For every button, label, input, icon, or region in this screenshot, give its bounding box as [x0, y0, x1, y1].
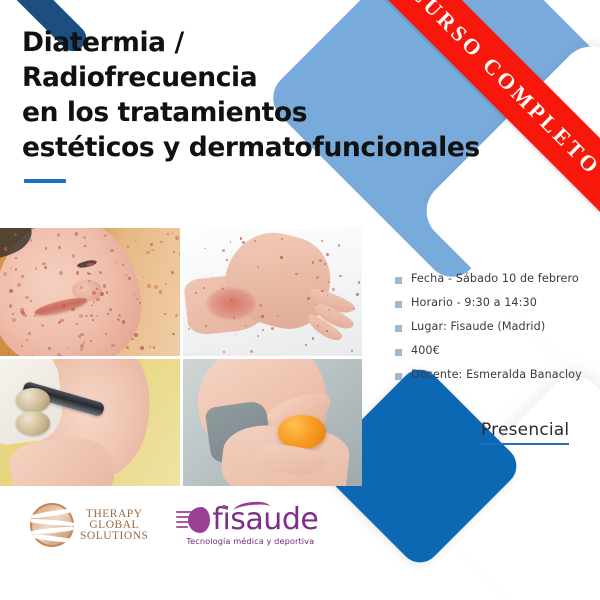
- title-line-3: en los tratamientos: [22, 95, 462, 130]
- fisaude-logo: fisaude Tecnología médica y deportiva: [176, 505, 318, 546]
- info-text-precio: 400€: [411, 344, 440, 357]
- poster-canvas: CURSO COMPLETO Diatermia / Radiofrecuenc…: [0, 0, 600, 600]
- modality-badge: Presencial: [481, 420, 569, 445]
- photo-tint: [0, 359, 180, 487]
- logo-bar: THERAPY GLOBAL SOLUTIONS fisaude Tecnolo…: [30, 503, 318, 547]
- therapy-line-2: GLOBAL: [80, 520, 148, 531]
- info-item-docente: Docente: Esmeralda Banacloy: [395, 368, 600, 381]
- fisaude-mark-icon: [176, 505, 210, 535]
- therapy-line-3: SOLUTIONS: [80, 531, 148, 542]
- photo-tint: [183, 359, 363, 487]
- modality-label: Presencial: [481, 420, 569, 440]
- photo-tint: [0, 228, 180, 356]
- title-line-4: estéticos y dermatofuncionales: [22, 130, 462, 165]
- info-text-lugar: Lugar: Fisaude (Madrid): [411, 320, 545, 333]
- acne-face-photo: [0, 228, 180, 356]
- therapy-wordmark: THERAPY GLOBAL SOLUTIONS: [80, 509, 148, 542]
- bullet-square-icon: [395, 373, 402, 380]
- bullet-square-icon: [395, 325, 402, 332]
- fisaude-tagline: Tecnología médica y deportiva: [186, 536, 314, 546]
- info-item-horario: Horario - 9:30 a 14:30: [395, 296, 600, 309]
- photo-tint: [183, 228, 363, 356]
- info-item-fecha: Fecha - Sábado 10 de febrero: [395, 272, 600, 285]
- title-accent-rule: [24, 179, 66, 183]
- orange-peel-thigh-photo: [183, 359, 363, 487]
- eczema-hands-photo: [183, 228, 363, 356]
- info-item-lugar: Lugar: Fisaude (Madrid): [395, 320, 600, 333]
- bullet-square-icon: [395, 349, 402, 356]
- therapy-line-1: THERAPY: [80, 509, 148, 520]
- info-text-horario: Horario - 9:30 a 14:30: [411, 296, 537, 309]
- therapy-swirl-icon: [30, 503, 74, 547]
- info-item-precio: 400€: [395, 344, 600, 357]
- bullet-square-icon: [395, 301, 402, 308]
- bullet-square-icon: [395, 277, 402, 284]
- therapy-global-solutions-logo: THERAPY GLOBAL SOLUTIONS: [30, 503, 148, 547]
- fisaude-dot-icon: [222, 505, 226, 509]
- modality-underline: [481, 443, 569, 445]
- info-text-docente: Docente: Esmeralda Banacloy: [411, 368, 582, 381]
- photo-collage: [0, 228, 362, 486]
- title-line-2: Radiofrecuencia: [22, 60, 462, 95]
- course-info-list: Fecha - Sábado 10 de febrero Horario - 9…: [395, 272, 600, 392]
- title-line-1: Diatermia /: [22, 25, 462, 60]
- poster-title: Diatermia / Radiofrecuencia en los trata…: [22, 25, 462, 183]
- facial-device-photo: [0, 359, 180, 487]
- info-text-fecha: Fecha - Sábado 10 de febrero: [411, 272, 579, 285]
